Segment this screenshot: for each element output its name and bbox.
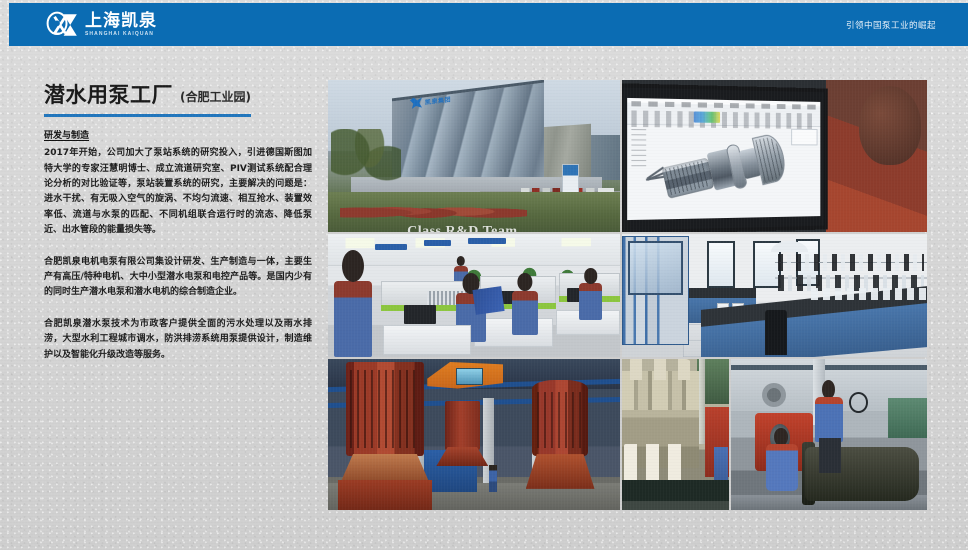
cad-monitor-image [622,80,927,232]
office-desk-1 [383,325,471,355]
page-title: 潜水用泵工厂 (合肥工业园) [44,84,312,107]
ribbon-appearance-icon [694,111,720,122]
text-column: 潜水用泵工厂 (合肥工业园) 研发与制造 2017年开始，公司加大了泵站系统的研… [44,84,312,363]
right-large-pump [532,380,587,456]
section-heading: 研发与制造 [44,128,312,141]
header-tagline: 引领中国泵工业的崛起 [846,19,936,31]
company-logo[interactable]: 上海凯泉 SHANGHAI KAIQUAN [45,11,157,39]
background-equipment [888,398,927,437]
left-large-pump [346,362,425,456]
suspended-pump-unit [445,401,480,449]
trees-region [331,129,401,205]
hanging-sign-2 [424,240,450,246]
logo-wordmark: 上海凯泉 SHANGHAI KAIQUAN [85,13,157,37]
lab-window-1 [707,241,734,288]
cad-side-panel [791,129,817,145]
workshop-ceiling-beam [731,365,927,370]
body-paragraph-2: 合肥凯泉电机电泵有限公司集设计研发、生产制造与一体，主要生产有高压/特种电机、大… [44,255,312,301]
body-paragraph-1: 2017年开始，公司加大了泵站系统的研究投入，引进德国斯图加特大学的专家汪慧明博… [44,146,312,238]
monitor-bezel [622,83,828,232]
body-paragraph-3: 合肥凯泉潜水泵技术为市政客户提供全面的污水处理以及雨水排涝，大型水利工程城市调水… [44,317,312,363]
side-bench-top [683,288,756,298]
diesel-engine-photo[interactable] [622,359,729,510]
page-title-subtitle: (合肥工业园) [180,88,251,107]
worker-torso [334,281,372,357]
headquarters-building-photo[interactable]: 凯泉集团 Class R&D Team [328,80,620,232]
crouching-worker [766,428,797,500]
logo-chinese-name: 上海凯泉 [85,13,157,30]
office-monitor-1 [404,305,436,323]
engineer-head-shape [859,86,921,165]
large-submersible-pumps-photo[interactable] [328,359,620,510]
office-worker-3 [512,291,538,335]
pump-cooling-ribs [537,392,584,448]
factory-worker [489,465,498,492]
title-underline-rule [44,114,251,117]
pump-assembly-hall-image [328,359,620,510]
worker-torso [766,444,797,492]
monitor-screen [627,98,820,221]
pump-cooling-ribs [350,370,419,449]
office-worker-1 [334,281,372,357]
worker-head [342,250,364,282]
testing-laboratory-photo[interactable] [622,234,927,357]
engineer-silhouette [826,80,927,232]
ribbon-icon-row [631,110,817,129]
engine-skid-frame [622,480,729,501]
slide-canvas: 上海凯泉 SHANGHAI KAIQUAN 引领中国泵工业的崛起 潜水用泵工厂 … [0,0,968,550]
engineering-office-image [328,234,620,357]
open-binder [472,286,504,314]
worker-torso [815,397,844,443]
worker-torso [512,291,538,335]
hanging-sign-1 [375,244,407,250]
reagent-bottles-top-row [778,254,924,271]
exhaust-pipes [624,359,692,380]
standing-worker [813,380,846,468]
pump-assembly-image [731,359,927,510]
brand-header-bar: 上海凯泉 SHANGHAI KAIQUAN 引领中国泵工业的崛起 [9,3,968,46]
pump-bell-mouth [526,454,595,489]
rooftop-logo-text: 凯泉集团 [425,94,451,106]
cad-ribbon-toolbar [627,98,820,127]
photo-collage: 凯泉集团 Class R&D Team [328,80,925,506]
bottom-right-photo-pair [622,359,927,510]
engineering-office-photo[interactable] [328,234,620,357]
laboratory-image [622,234,927,357]
wall-fan-icon [762,383,786,407]
worker-head [517,273,532,292]
worker-torso [579,283,602,320]
hanging-sign-3 [468,238,506,244]
crane-operator-cab [456,368,482,385]
cad-design-monitor-photo[interactable] [622,80,927,232]
page-title-main: 潜水用泵工厂 [44,84,173,107]
pump-assembly-workers-photo[interactable] [731,359,927,510]
diesel-engine-image [622,359,729,510]
logo-english-name: SHANGHAI KAIQUAN [85,32,157,37]
cabinet-glass-door [628,241,683,295]
worker-head [584,268,598,283]
pump-bell-mouth [338,480,433,510]
glassware-on-bench [811,288,927,300]
ribbon-tabs-strip [631,101,817,110]
pump-flange [341,454,429,482]
exploded-pump-model [641,128,795,219]
worker-legs [819,438,840,473]
kaiquan-qx-logo-icon [45,11,79,39]
lab-chair [765,310,786,354]
office-worker-4 [579,283,602,320]
headquarters-building-image: 凯泉集团 [328,80,620,232]
rooftop-logo-icon [410,96,422,108]
